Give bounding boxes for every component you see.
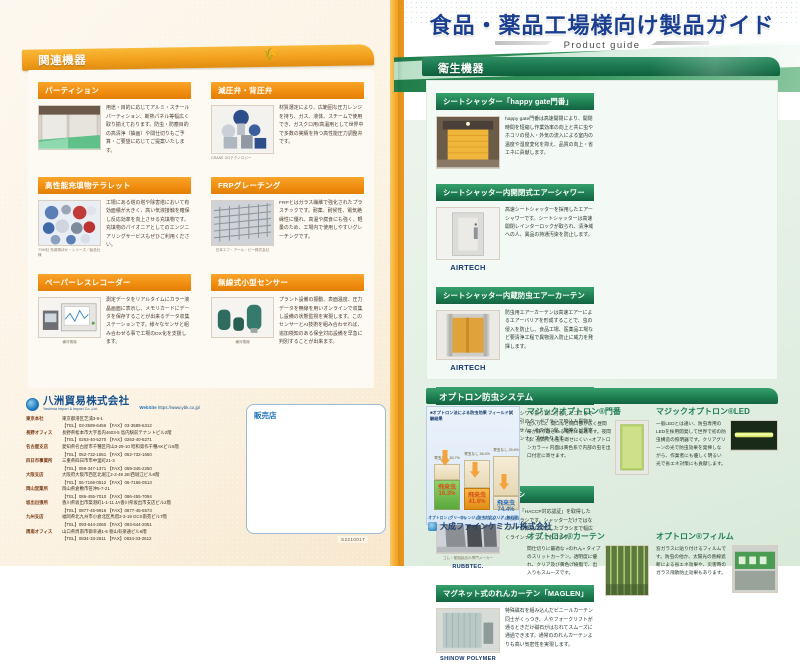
product-thumbnail: 日本エフ・アール・ピー株式会社 [211,200,274,253]
optron-film-photo [732,545,778,593]
branch-item: 名古屋支店愛知県名古屋市千種区内山3-29-10 昭和第作千種AKビル5階 【T… [26,444,241,458]
product-credit: 日本エフ・アール・ピー株式会社 [211,248,274,253]
section-label-sanitary-equipment: 衛生機器 [438,60,484,76]
packing-tellerette-photo [38,200,101,247]
product-card[interactable]: シートシャッター内開閉式エアーシャワー AIRTECH [427,172,603,275]
product-description: FRPとはガラス繊維で強化されたプラスチックです。耐薬、耐候性、電気絶縁性に優れ… [279,200,364,253]
related-equipment-card-grid: パーティション 用途・目的に応じてアル [28,70,374,352]
product-credit: 横河電機 [38,340,101,345]
brand-name: AIRTECH [436,363,500,372]
partner-logo-icon [428,522,437,531]
brochure-spread: 関連機器 🌾 パーティション [0,0,800,566]
air-shower-photo [436,207,500,259]
product-credit: 横河電機 [211,340,274,345]
product-description: 工場にある塔の塔や除害塔において有効面積が大きく、高い気液接触を確保し反応効率を… [106,200,191,258]
brand-name: SHINOW POLYMER [436,656,500,662]
partner-company: 大成ファインケミカル株式会社 [428,521,552,532]
branch-tel: 【TEL】0834-33-2611 【FAX】0834-33-2612 [26,536,241,542]
branch-address: 香川県坂出市築港町1-1-11 JA香川県坂出市支店ビル2階 [62,500,241,506]
product-card[interactable]: ペーパーレスレコーダー 横 [28,262,201,352]
page-spine-shadow [398,0,406,566]
magnet-curtain-photo [436,608,500,653]
page-code: S221001T [338,536,368,543]
product-caption: マジックオプトロン®門番 [527,406,649,417]
frp-grating-photo [211,200,274,247]
company-website[interactable]: WebSite https://www.ybk.co.jp/ [139,405,200,411]
dealer-label: 販売店 [254,410,277,421]
company-logo-icon [26,398,39,411]
branch-address: 長野県松本市大字島内4603-5 島内駅前テナントビル2階 [62,430,241,436]
chart-bar-top-label: 寄虫なし 58.4% [464,452,490,457]
product-caption: ペーパーレスレコーダー [38,274,191,291]
product-thumbnail: AIRTECH [436,207,500,271]
product-description: 測定データをリアルタイムにカラー液晶画面に表示し、メモリカードにデータを保存する… [106,297,191,348]
company-info: 八洲貿易株式会社 Yashima Import & Import Co.,Ltd… [26,396,241,543]
branch-label: 岡山営業所 [26,486,62,492]
branch-address: 岡山県倉敷市笹沖5-7-21 [62,486,241,492]
paperless-recorder-photo [38,297,101,338]
product-caption: パーティション [38,82,191,99]
product-caption: シートシャッター「happy gate門番」 [436,93,594,110]
product-card[interactable]: 減圧弁・背圧弁 [201,70,374,165]
product-credit: CRANE GOテクノロジー [211,156,274,161]
product-description: 出入り口、間口など開口部が広く昼間帯が繰り返される場所に最適です。夜間は、屋間で… [527,420,611,475]
product-thumbnail: TSM社 充填物ほか・シリーズ／製品仕様 [38,200,101,258]
product-description: 用途・目的に応じてアルミ・スチールパーティション、断熱パネル等幅広く取り揃えてお… [106,105,191,156]
product-card[interactable]: FRPグレーチング [201,165,374,262]
air-curtain-photo [436,310,500,360]
product-card[interactable]: 無線式小型センサー 横河電機 プラント設備の [201,262,374,352]
magic-optron-gate-photo [615,420,649,475]
page-title: 食品・薬品工場様向け製品ガイド [404,8,800,40]
wireless-sensor-photo [211,297,274,338]
section-label-related-equipment: 関連機器 [38,52,87,69]
branch-item: 大阪支店大阪府大阪市西区北堀江2-2-49 JEI西堀江ビル8階 【TEL】06… [26,472,241,486]
product-description: 特殊磁石を組み込んだビニールカーテン同士がくっつき、人やフォークリフトが通るとき… [505,608,594,662]
pressure-valve-photo [211,105,274,153]
product-card[interactable]: オプトロン®フィルム 窓ガラスに貼り付けるフィルムです。防虫の他か、太陽光の熱線… [656,531,778,597]
branch-address: 福岡県北九州市小倉北区馬借2-3-19 GCS南苑ビル7階 [62,514,241,520]
branch-item: 周南オフィス山口県周南市御幸通1-5 徳山有楽通ビル6階 【TEL】0834-3… [26,529,241,543]
product-caption: マジックオプトロン®LED [656,406,778,417]
branch-label: 周南オフィス [26,529,62,535]
wheat-icon: 🌾 [263,47,278,61]
product-card[interactable]: パーティション 用途・目的に応じてアル [28,70,201,165]
product-caption: シートシャッター内開閉式エアーシャワー [436,184,594,201]
branch-label: 四日市事業所 [26,458,62,464]
product-caption: オプトロン®カーテン [527,531,649,542]
product-card[interactable]: オプトロン®カーテン 間仕切りに最適な «のれん» タイプのスリットカーテン。透… [527,531,649,597]
product-card[interactable]: マジックオプトロン®門番 出入り口、間口など開口部が広く昼間帯が繰り返される場所… [527,406,649,525]
product-thumbnail: AIRTECH [436,310,500,372]
product-thumbnail: CRANE GOテクノロジー [211,105,274,160]
product-thumbnail [605,545,649,597]
branch-label: 東京本社 [26,416,62,422]
product-card[interactable]: シートシャッター内蔵防虫エアーカーテン AIRTECH [427,275,603,376]
product-thumbnail [730,420,778,468]
left-page-content: パーティション 用途・目的に応じてアル [28,70,374,388]
subtitle-rule-left [495,41,553,45]
page-subtitle: Product guide [404,40,800,51]
branch-label: 九州支店 [26,514,62,520]
brand-name: AIRTECH [436,263,500,272]
optron-section-content: ■オプトロン法による防虫効果 フィールド試験結果 寄虫なし 83.7% 飛来虫 … [426,406,778,596]
product-thumbnail: SHINOW POLYMER [436,608,500,662]
branch-list: 東京本社東京都港区芝浦3-9-1 【TEL】03-3589-6456 【FAX】… [26,416,241,543]
product-caption: 減圧弁・背圧弁 [211,82,364,99]
optron-effect-chart: ■オプトロン法による防虫効果 フィールド試験結果 寄虫なし 83.7% 飛来虫 … [426,406,520,525]
product-thumbnail: 横河電機 [211,297,274,348]
left-page: 関連機器 🌾 パーティション [0,0,404,566]
section-banner-optron-system: オプトロン防虫システム [426,388,778,404]
product-caption: オプトロン®フィルム [656,531,778,542]
branch-address: 愛知県名古屋市千種区内山3-29-10 昭和第作千種AKビル5階 [62,444,241,450]
product-description: happy gate門番は高速開閉により、開閉時間を短縮し作業効率の向上と共に虫… [505,116,594,168]
sheet-shutter-photo [436,116,500,168]
branch-item: 長野オフィス長野県松本市大字島内4603-5 島内駅前テナントビル2階 【TEL… [26,430,241,444]
company-name-en: Yashima Import & Import Co.,Ltd. [43,407,129,411]
company-name: 八洲貿易株式会社 [43,396,129,407]
magic-optron-led-photo [730,420,778,451]
website-url: https://www.ybk.co.jp/ [158,405,200,410]
branch-item: 四日市事業所三重県四日市市中里町21-3 【TEL】059-347-1371 【… [26,458,241,472]
product-credit: TSM社 充填物ほか・シリーズ／製品仕様 [38,248,101,257]
branch-item: 坂出出張所香川県坂出市築港町1-1-11 JA香川県坂出市支店ビル2階 【TEL… [26,500,241,514]
branch-label: 名古屋支店 [26,444,62,450]
branch-label: 長野オフィス [26,430,62,436]
chart-title: ■オプトロン法による防虫効果 フィールド試験結果 [430,410,516,422]
product-card[interactable]: マジックオプトロン®LED 一般LEDとは違い、防虫専用のLEDを採用開発して世… [656,406,778,525]
branch-item: 東京本社東京都港区芝浦3-9-1 【TEL】03-3589-6456 【FAX】… [26,416,241,430]
product-card[interactable]: 高性能充填物テラレット T [28,165,201,262]
product-description: 高速シートシャッターを採用したエアーシャワーです。シートシャッターは高速開閉レイ… [505,207,594,271]
branch-label: 大阪支店 [26,472,62,478]
branch-label: 坂出出張所 [26,500,62,506]
branch-item: 九州支店福岡県北九州市小倉北区馬借2-3-19 GCS南苑ビル7階 【TEL】0… [26,514,241,528]
optron-curtain-photo [605,545,649,597]
chart-plot-area: 寄虫なし 83.7% 飛来虫 16.3% オプトロン (グリーン) 寄虫なし 5… [430,424,516,516]
product-description: 材質選定により、広範囲な圧力レンジを持ち、ガス、液体、スチームで使用でき、ガスク… [279,105,364,160]
partner-company-name: 大成ファインケミカル株式会社 [440,521,552,532]
section-banner-related-equipment: 関連機器 🌾 [22,44,374,71]
product-caption: 高性能充填物テラレット [38,177,191,194]
product-description: 防虫用エアーカーテンは高速エアーによるエアーバリアを形成することで、虫の侵入を防… [505,310,594,372]
website-label: WebSite [139,405,156,410]
product-thumbnail: 横河電機 [38,297,101,348]
product-thumbnail [436,116,500,168]
chart-bar-value: 飛来虫 41.6% [464,490,490,505]
sanitary-equipment-content: シートシャッター「happy gate門番」 [426,80,778,380]
product-thumbnail [38,105,101,156]
right-page: 食品・薬品工場様向け製品ガイド Product guide 衛生機器 シートシャ… [404,0,800,566]
section-label-optron-system: オプトロン防虫システム [439,391,533,403]
chart-bar-top-label: 寄虫なし 25.6% [493,448,519,453]
branch-item: 岡山営業所岡山県倉敷市笹沖5-7-21 【TEL】086-455-7010 【F… [26,486,241,500]
page-subtitle-text: Product guide [564,40,641,51]
product-description: プラント設備の振動、表面温度、圧力データを無線を用いオンラインで収集し設備の状態… [279,297,364,348]
product-thumbnail [732,545,778,593]
product-card[interactable]: シートシャッター「happy gate門番」 [427,81,603,172]
product-caption: シートシャッター内蔵防虫エアーカーテン [436,287,594,304]
chart-bar: 寄虫なし 83.7% 飛来虫 16.3% オプトロン (グリーン) [434,464,460,510]
product-caption: 無線式小型センサー [211,274,364,291]
partition-photo [38,105,101,150]
product-description: 間仕切りに最適な «のれん» タイプのスリットカーテン。透明度に優れ、クリア及び… [527,545,601,597]
product-description: 一般LEDとは違い、防虫専用のLEDを採用開発して世界で初の防虫構造の照明器です… [656,420,726,468]
product-caption: FRPグレーチング [211,177,364,194]
dealer-stamp-box: 販売店 [246,404,386,534]
product-thumbnail [615,420,649,475]
branch-address: 山口県周南市御幸通1-5 徳山有楽通ビル6階 [62,529,241,535]
section-banner-sanitary-equipment: 衛生機器 [422,57,780,76]
product-description: 窓ガラスに貼り付けるフィルムです。防虫の他か、太陽光の熱線遮断による省エネ効果や… [656,545,728,593]
subtitle-rule-right [651,41,709,45]
chart-bar-value: 飛来虫 74.4% [493,498,519,513]
branch-address: 三重県四日市市中里町21-3 [62,458,241,464]
chart-bar-value: 飛来虫 16.3% [434,482,460,497]
branch-address: 大阪府大阪市西区北堀江2-2-49 JEI西堀江ビル8階 [62,472,241,478]
banner-decoration [650,57,780,76]
branch-address: 東京都港区芝浦3-9-1 [62,416,241,422]
